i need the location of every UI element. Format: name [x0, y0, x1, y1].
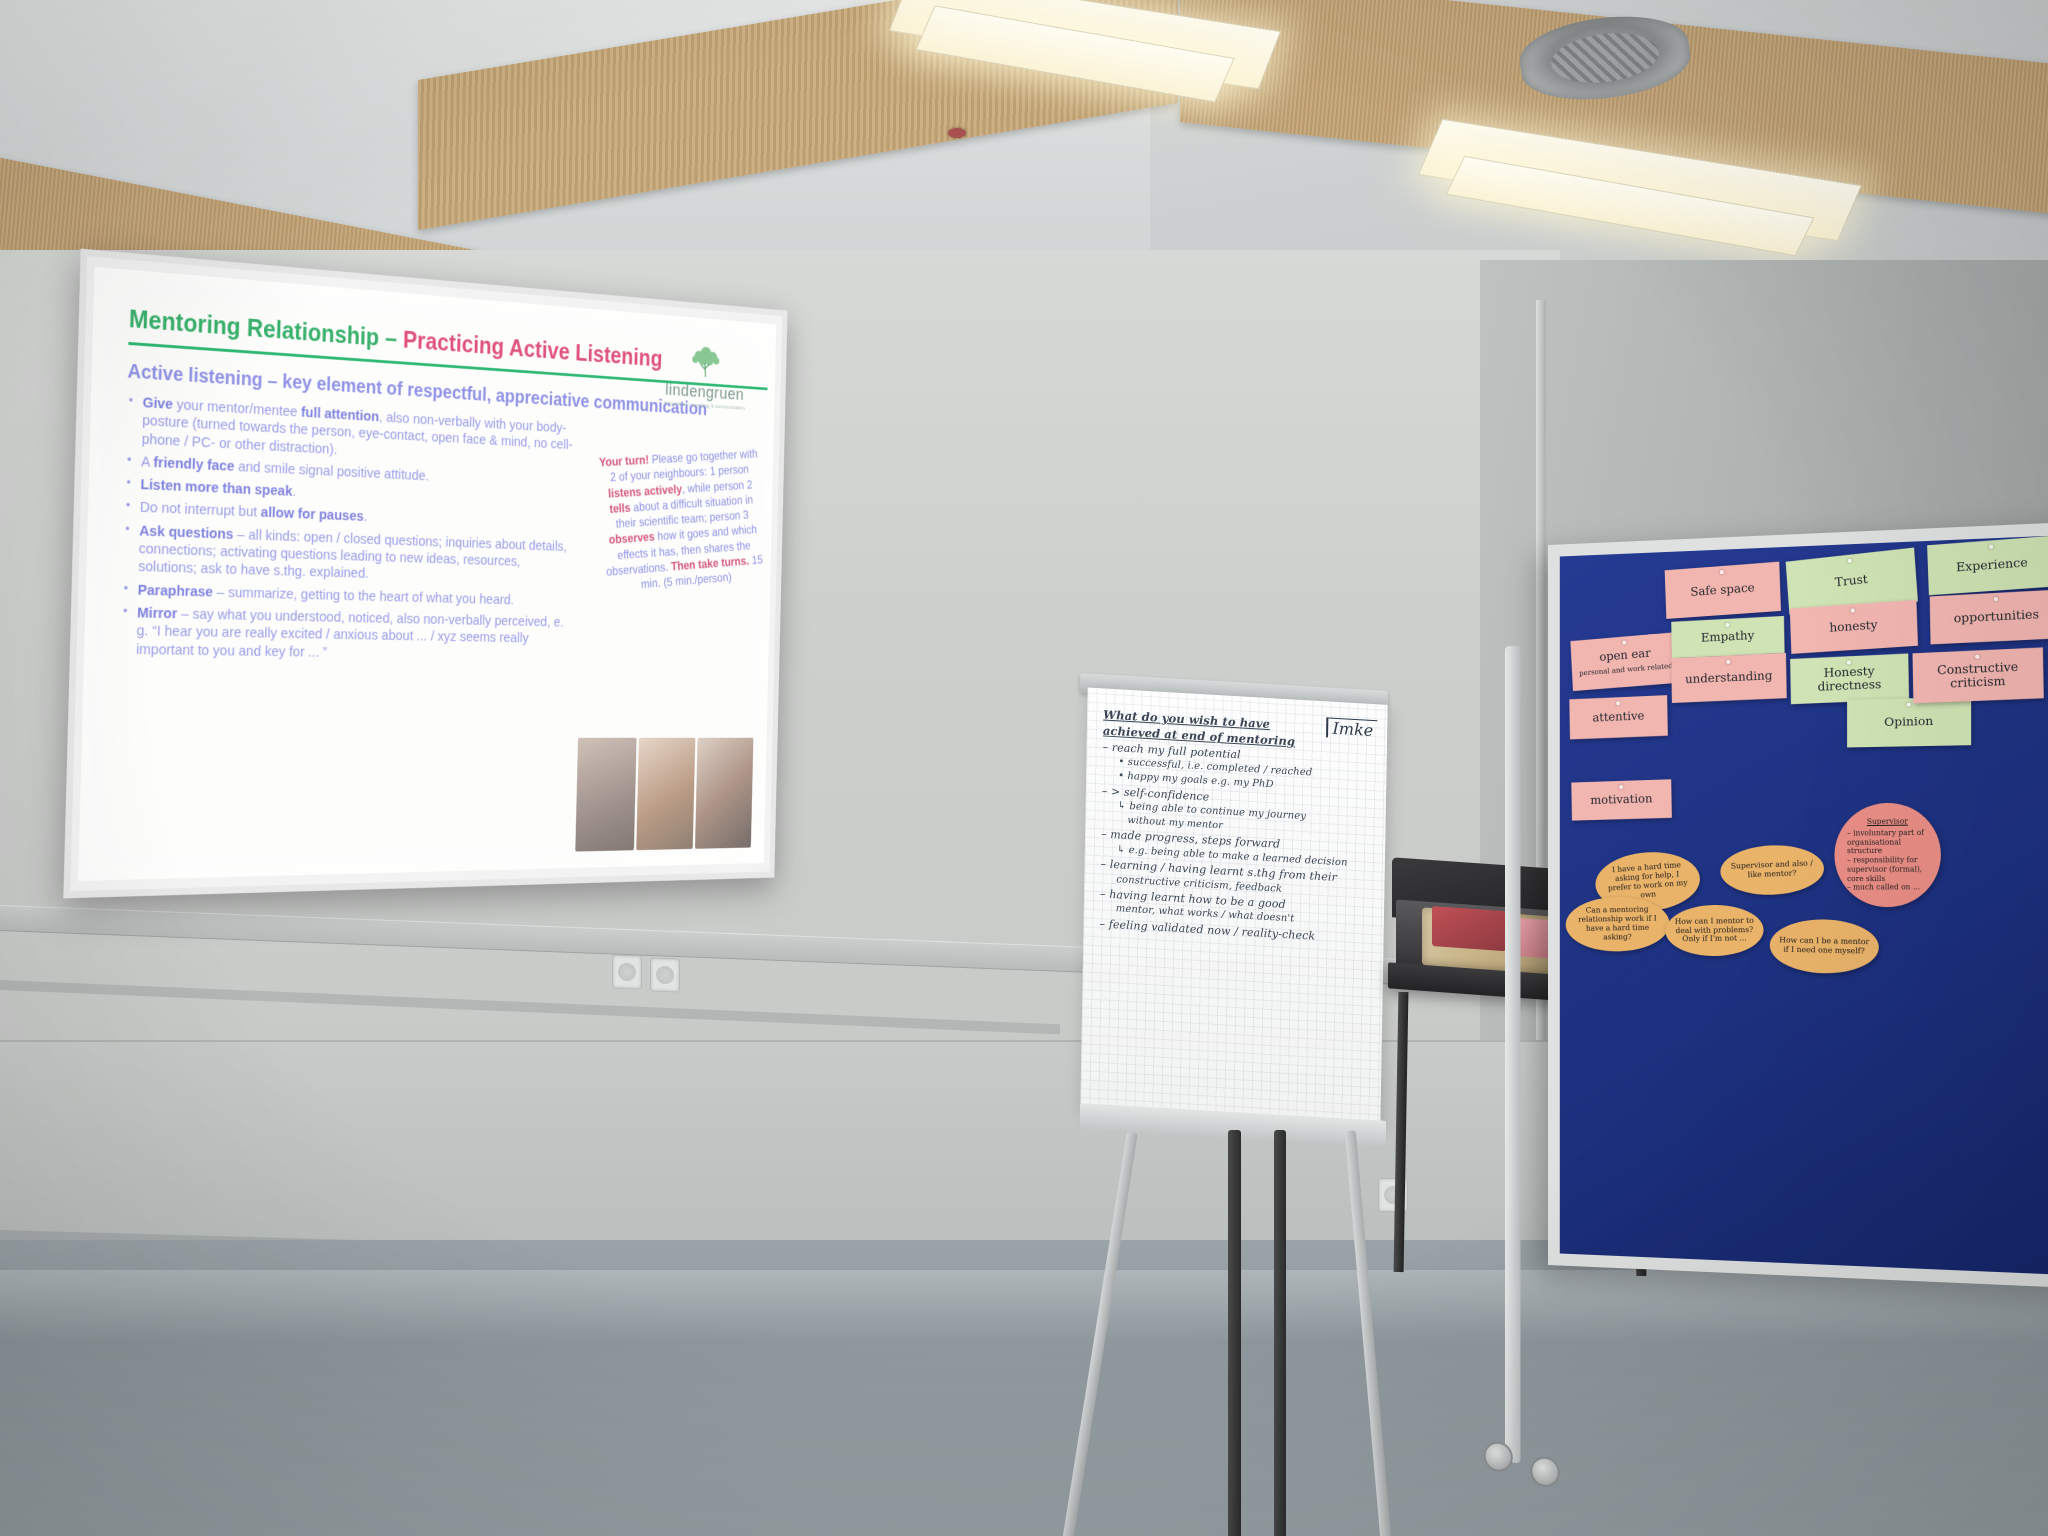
pin-icon	[1725, 623, 1729, 627]
circle-note-title: Supervisor	[1847, 817, 1928, 827]
pin-icon	[1851, 608, 1855, 612]
bullet-emphasis: Ask questions	[139, 522, 233, 542]
oval-card-text: How can I mentor to deal with problems? …	[1673, 916, 1755, 944]
pin-icon	[1616, 701, 1620, 705]
pin-icon	[1848, 559, 1853, 564]
oval-card-5[interactable]: Supervisor and also / like mentor?	[1720, 843, 1825, 896]
wall-socket-1[interactable]	[612, 954, 642, 989]
floor-reflection	[0, 1270, 2048, 1340]
bullet-emphasis: Mirror	[137, 605, 178, 623]
task-line2-highlight: tells	[609, 501, 631, 516]
task-line1-post: , while	[682, 480, 712, 495]
sticky-card-9[interactable]: Honesty directness	[1790, 653, 1909, 704]
oval-card-2[interactable]: Can a mentoring relationship work if I h…	[1565, 896, 1670, 952]
slide-photo-strip	[575, 738, 753, 852]
sticky-card-text: understanding	[1685, 669, 1772, 686]
pinboard-frame: open earpersonal and work relatedattenti…	[1548, 521, 2048, 1289]
tree-icon	[685, 342, 726, 380]
oval-card-3[interactable]: How can I mentor to deal with problems? …	[1665, 904, 1764, 956]
flipchart-handwriting: What do you wish to have achieved at end…	[1099, 706, 1373, 947]
bullet-text: and smile signal positive attitude.	[234, 458, 429, 484]
circle-note-supervisor[interactable]: Supervisor– involuntary part of organisa…	[1834, 802, 1940, 907]
pinboard: open earpersonal and work relatedattenti…	[1548, 521, 2048, 1289]
pin-icon	[1975, 654, 1979, 658]
sticky-card-11[interactable]: Experience	[1927, 535, 2048, 595]
sticky-card-text: honesty	[1829, 619, 1878, 636]
circle-note-line-3: – much called on ...	[1847, 883, 1928, 892]
table-leg-left	[1394, 992, 1409, 1272]
sticky-card-2[interactable]: attentive	[1569, 695, 1668, 739]
sticky-card-1[interactable]: open earpersonal and work related	[1570, 632, 1680, 691]
bullet-text: A	[141, 453, 154, 470]
pin-icon	[1619, 785, 1623, 789]
bullet-text: .	[363, 509, 367, 525]
flipchart-notes: – reach my full potential• successful, i…	[1099, 739, 1372, 947]
sticky-card-text: Opinion	[1884, 715, 1933, 730]
sticky-card-3[interactable]: motivation	[1571, 779, 1672, 820]
circle-note-line-1: – involuntary part of organisational str…	[1847, 828, 1928, 856]
bullet-emphasis: Paraphrase	[138, 582, 214, 601]
sticky-card-text: motivation	[1590, 792, 1652, 807]
bullet-emphasis: friendly face	[153, 454, 234, 475]
task-line3-highlight: observes	[608, 530, 655, 547]
pin-icon	[1622, 640, 1626, 644]
bullet-emphasis: Listen more than speak	[140, 476, 292, 499]
task-lead: Your turn!	[599, 453, 650, 469]
sticky-card-5[interactable]: Empathy	[1671, 616, 1784, 658]
sticky-card-8[interactable]: honesty	[1790, 600, 1918, 654]
flipchart-easel: Imke What do you wish to have achieved a…	[1078, 660, 1398, 1400]
sticky-card-text: attentive	[1592, 710, 1644, 725]
task-line2-pre: person 2	[713, 477, 753, 493]
sticky-card-4[interactable]: Safe space	[1665, 562, 1781, 619]
sticky-card-12[interactable]: opportunities	[1930, 589, 2048, 644]
lindengruen-logo: lindengruen intercultural consulting & c…	[656, 340, 754, 412]
smoke-detector-icon	[948, 128, 966, 138]
sticky-card-text: opportunities	[1954, 608, 2040, 626]
sticky-card-text: open earpersonal and work related	[1578, 644, 1673, 678]
circle-note-line-2: – responsibility for supervisor (formal)…	[1847, 856, 1928, 884]
sticky-card-text: Honesty directness	[1794, 663, 1904, 695]
pin-icon	[1726, 660, 1730, 664]
pin-icon	[1907, 702, 1911, 706]
sticky-card-13[interactable]: Constructive criticism	[1913, 647, 2044, 703]
slide-title-dash: –	[379, 325, 404, 353]
pin-icon	[1994, 597, 1998, 601]
sticky-card-6[interactable]: understanding	[1671, 653, 1787, 703]
presentation-slide: Mentoring Relationship – Practicing Acti…	[78, 267, 776, 881]
task-instruction-box: Your turn! Please go together with 2 of …	[598, 446, 765, 595]
wall-socket-2[interactable]	[650, 957, 680, 992]
slide-photo-2	[636, 738, 696, 850]
sticky-card-text: Experience	[1956, 556, 2028, 575]
flipchart-leg-center-1	[1228, 1130, 1241, 1536]
bullet-text: Do not interrupt but	[140, 499, 261, 521]
oval-card-text: Can a mentoring relationship work if I h…	[1573, 905, 1661, 942]
oval-card-text: How can I be a mentor if I need one myse…	[1778, 936, 1871, 956]
oval-card-text: Supervisor and also / like mentor?	[1728, 859, 1816, 881]
bullet-emphasis: Give	[142, 394, 173, 413]
screen-frame: Mentoring Relationship – Practicing Acti…	[63, 249, 787, 899]
pin-icon	[1720, 570, 1724, 574]
flipchart-paper: Imke What do you wish to have achieved a…	[1080, 688, 1387, 1125]
task-line3-pre: person 3	[709, 508, 749, 524]
sticky-card-text: Trust	[1834, 573, 1868, 590]
pinboard-surface: open earpersonal and work relatedattenti…	[1560, 535, 2048, 1276]
bullet-text: – say what you understood, noticed, also…	[136, 605, 564, 660]
flipchart-name-tag: Imke	[1326, 717, 1377, 740]
case-item-red	[1432, 906, 1506, 951]
slide-bullet-list: Give your mentor/mentee full attention, …	[120, 393, 575, 664]
room-photo: Mentoring Relationship – Practicing Acti…	[0, 0, 2048, 1536]
sticky-card-text: Safe space	[1690, 581, 1755, 599]
bullet-text: .	[292, 484, 296, 500]
flipchart-leg-center-2	[1274, 1130, 1286, 1536]
sticky-card-text: Empathy	[1701, 629, 1755, 645]
sticky-card-10[interactable]: Opinion	[1847, 697, 1971, 748]
task-line1-pre: 1 person	[709, 463, 749, 479]
pin-icon	[1989, 544, 1994, 549]
oval-card-4[interactable]: How can I be a mentor if I need one myse…	[1769, 918, 1879, 974]
pinboard-stand-post	[1505, 646, 1521, 1463]
bullet-emphasis: allow for pauses	[261, 505, 364, 526]
bullet-text: – summarize, getting to the heart of wha…	[213, 584, 514, 608]
slide-photo-1	[575, 738, 636, 852]
projection-screen: Mentoring Relationship – Practicing Acti…	[63, 249, 787, 899]
slide-photo-3	[695, 738, 753, 849]
sticky-card-text: Constructive criticism	[1917, 659, 2039, 692]
slide-bullet-7: Mirror – say what you understood, notice…	[120, 604, 570, 665]
